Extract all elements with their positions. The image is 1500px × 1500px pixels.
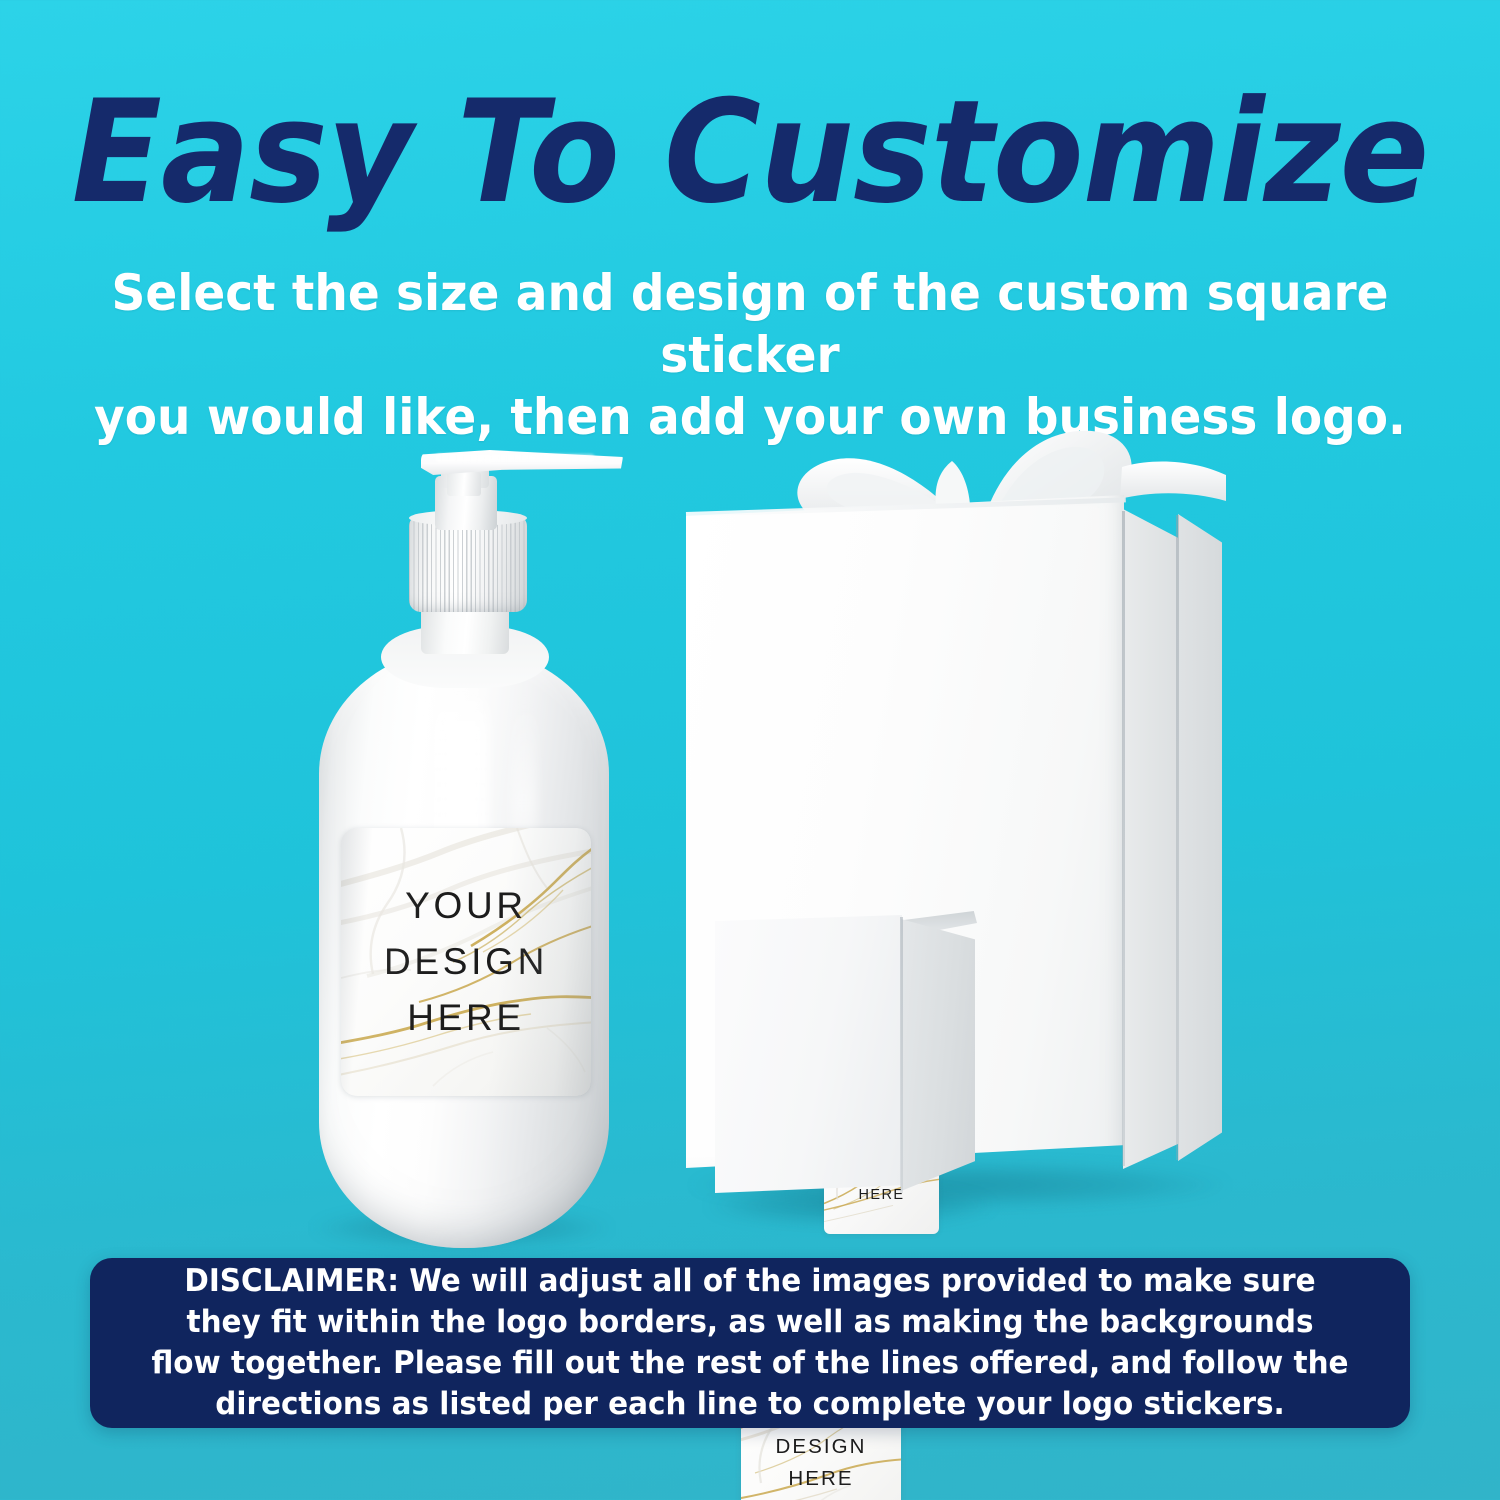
subtitle-line-1: Select the size and design of the custom… [45, 262, 1455, 386]
sticker-line-3: HERE [407, 990, 525, 1046]
product-mockup-scene: YOUR DESIGN HERE [0, 400, 1500, 1250]
sticker-line-1: YOUR [405, 878, 527, 934]
sticker-on-bottle: YOUR DESIGN HERE [341, 828, 591, 1096]
pump-nozzle-stem [447, 472, 481, 496]
pump-nozzle-highlight [435, 454, 595, 462]
sticker-line-3: HERE [788, 1463, 853, 1495]
disclaimer-prefix: DISCLAIMER: [184, 1263, 399, 1299]
small-box-edge [900, 917, 903, 1193]
header: Easy To Customize Select the size and de… [0, 0, 1500, 448]
gift-box-back-side-face [1178, 514, 1222, 1161]
small-box [715, 915, 980, 1215]
small-box-side-face [901, 919, 975, 1191]
pump-bottle: YOUR DESIGN HERE [305, 450, 625, 1250]
gift-box-side-face [1123, 509, 1181, 1169]
sticker-text-block: YOUR DESIGN HERE [341, 828, 591, 1096]
pump-collar-ribbed [409, 516, 527, 612]
sticker-line-2: DESIGN [384, 934, 548, 990]
disclaimer-banner: DISCLAIMER: We will adjust all of the im… [90, 1258, 1410, 1428]
gift-box-seam [1122, 511, 1125, 1166]
disclaimer-text: DISCLAIMER: We will adjust all of the im… [123, 1261, 1377, 1425]
small-box-front-face [715, 915, 902, 1193]
bottle-label: YOUR DESIGN HERE [341, 828, 591, 1096]
page-title: Easy To Customize [53, 82, 1448, 224]
sticker-line-2: DESIGN [776, 1431, 867, 1463]
gift-box-seam-2 [1176, 515, 1179, 1160]
